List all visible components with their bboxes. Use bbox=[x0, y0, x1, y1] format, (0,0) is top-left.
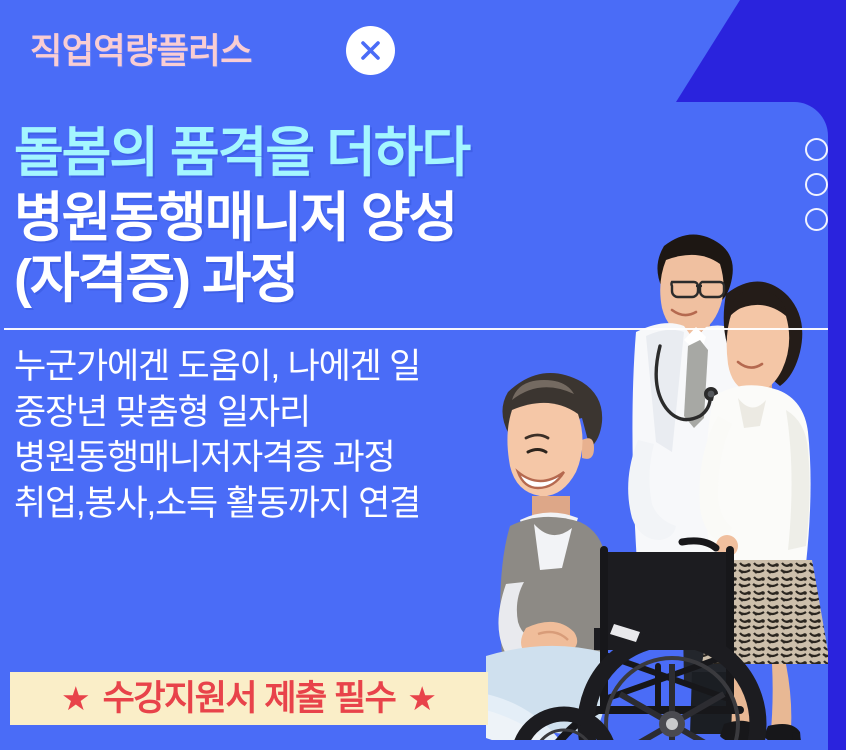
headline-white-line2: (자격증) 과정 bbox=[14, 249, 846, 310]
headline-white-line1: 병원동행매니저 양성 bbox=[14, 188, 456, 248]
carousel-dot-1[interactable] bbox=[805, 138, 828, 161]
close-button[interactable] bbox=[346, 26, 395, 75]
body-line-4: 취업,봉사,소득 활동까지 연결 bbox=[14, 481, 846, 527]
star-left-icon: ★ bbox=[61, 682, 91, 715]
headline-white: 병원동행매니저 양성 (자격증) 과정 bbox=[14, 188, 846, 310]
brand-title: 직업역량플러스 bbox=[30, 34, 252, 69]
headline-cyan: 돌봄의 품격을 더하다 bbox=[14, 124, 846, 182]
header-corner-wedge bbox=[676, 0, 846, 102]
carousel-dot-3[interactable] bbox=[805, 208, 828, 231]
right-edge-rail bbox=[828, 0, 846, 750]
carousel-indicators[interactable] bbox=[805, 138, 828, 231]
notice-text: 수강지원서 제출 필수 bbox=[103, 681, 396, 716]
notice-banner: ★ 수강지원서 제출 필수 ★ bbox=[10, 672, 488, 725]
carousel-dot-2[interactable] bbox=[805, 173, 828, 196]
popup-content: 돌봄의 품격을 더하다 병원동행매니저 양성 (자격증) 과정 누군가에겐 도움… bbox=[0, 102, 846, 526]
body-line-1: 누군가에겐 도움이, 나에겐 일 bbox=[14, 344, 846, 390]
body-line-2: 중장년 맞춤형 일자리 bbox=[14, 390, 846, 436]
popup-header: 직업역량플러스 bbox=[0, 0, 846, 102]
popup-banner: 직업역량플러스 bbox=[0, 0, 846, 750]
close-icon bbox=[357, 37, 384, 64]
star-right-icon: ★ bbox=[407, 682, 437, 715]
section-divider bbox=[4, 328, 832, 330]
body-line-3: 병원동행매니저자격증 과정 bbox=[14, 435, 846, 481]
body-text-list: 누군가에겐 도움이, 나에겐 일 중장년 맞춤형 일자리 병원동행매니저자격증 … bbox=[14, 344, 846, 526]
